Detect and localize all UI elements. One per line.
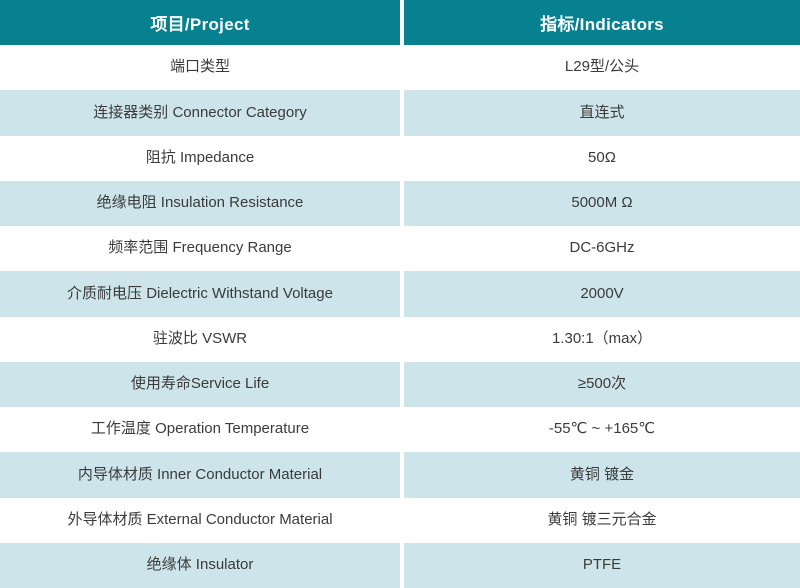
table-row: 频率范围 Frequency RangeDC-6GHz bbox=[0, 226, 800, 271]
cell-indicator: DC-6GHz bbox=[404, 226, 800, 271]
table-row: 阻抗 Impedance50Ω bbox=[0, 136, 800, 181]
cell-project: 端口类型 bbox=[0, 45, 400, 90]
table-body: 端口类型L29型/公头连接器类别 Connector Category直连式阻抗… bbox=[0, 45, 800, 588]
cell-project: 驻波比 VSWR bbox=[0, 317, 400, 362]
cell-indicator: 黄铜 镀三元合金 bbox=[404, 498, 800, 543]
cell-indicator: 2000V bbox=[404, 271, 800, 316]
table-header-row: 项目/Project 指标/Indicators bbox=[0, 0, 800, 45]
cell-project: 绝缘电阻 Insulation Resistance bbox=[0, 181, 400, 226]
cell-project: 内导体材质 Inner Conductor Material bbox=[0, 452, 400, 497]
cell-indicator: 50Ω bbox=[404, 136, 800, 181]
table-row: 端口类型L29型/公头 bbox=[0, 45, 800, 90]
specification-table: 项目/Project 指标/Indicators 端口类型L29型/公头连接器类… bbox=[0, 0, 800, 588]
table-row: 绝缘电阻 Insulation Resistance5000M Ω bbox=[0, 181, 800, 226]
cell-project: 频率范围 Frequency Range bbox=[0, 226, 400, 271]
cell-indicator: PTFE bbox=[404, 543, 800, 588]
table-row: 介质耐电压 Dielectric Withstand Voltage2000V bbox=[0, 271, 800, 316]
table-row: 驻波比 VSWR1.30:1（max） bbox=[0, 317, 800, 362]
cell-indicator: 1.30:1（max） bbox=[404, 317, 800, 362]
cell-project: 阻抗 Impedance bbox=[0, 136, 400, 181]
cell-indicator: ≥500次 bbox=[404, 362, 800, 407]
table-row: 外导体材质 External Conductor Material黄铜 镀三元合… bbox=[0, 498, 800, 543]
table-row: 内导体材质 Inner Conductor Material黄铜 镀金 bbox=[0, 452, 800, 497]
cell-project: 连接器类别 Connector Category bbox=[0, 90, 400, 135]
table-row: 绝缘体 InsulatorPTFE bbox=[0, 543, 800, 588]
cell-indicator: L29型/公头 bbox=[404, 45, 800, 90]
table-row: 使用寿命Service Life≥500次 bbox=[0, 362, 800, 407]
table-row: 工作温度 Operation Temperature-55℃ ~ +165℃ bbox=[0, 407, 800, 452]
cell-project: 使用寿命Service Life bbox=[0, 362, 400, 407]
column-header-indicators: 指标/Indicators bbox=[404, 0, 800, 45]
cell-project: 介质耐电压 Dielectric Withstand Voltage bbox=[0, 271, 400, 316]
cell-indicator: -55℃ ~ +165℃ bbox=[404, 407, 800, 452]
cell-indicator: 5000M Ω bbox=[404, 181, 800, 226]
cell-indicator: 直连式 bbox=[404, 90, 800, 135]
column-header-project: 项目/Project bbox=[0, 0, 400, 45]
cell-indicator: 黄铜 镀金 bbox=[404, 452, 800, 497]
cell-project: 绝缘体 Insulator bbox=[0, 543, 400, 588]
cell-project: 工作温度 Operation Temperature bbox=[0, 407, 400, 452]
cell-project: 外导体材质 External Conductor Material bbox=[0, 498, 400, 543]
table-row: 连接器类别 Connector Category直连式 bbox=[0, 90, 800, 135]
